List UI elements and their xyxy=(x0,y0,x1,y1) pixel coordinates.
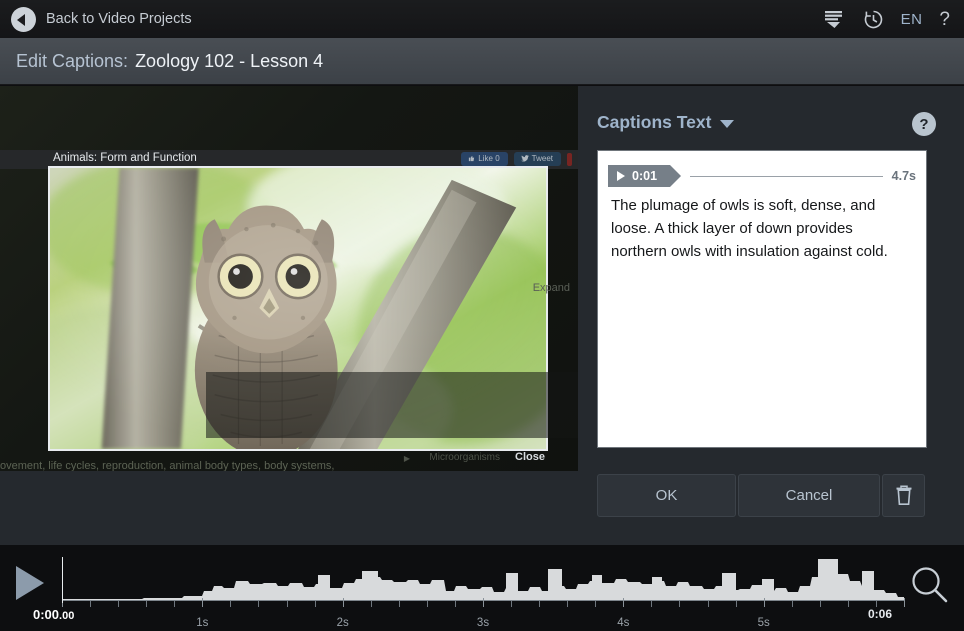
cue-duration: 4.7s xyxy=(892,169,916,183)
back-label: Back to Video Projects xyxy=(46,11,192,27)
cue-start-time: 0:01 xyxy=(632,169,657,183)
timeline-tick xyxy=(343,598,344,607)
timeline-tick xyxy=(483,598,484,607)
share-red-button[interactable] xyxy=(567,153,572,166)
timeline-tick xyxy=(708,601,709,607)
social-buttons: Like 0 Tweet xyxy=(461,152,572,166)
timeline-tick xyxy=(595,601,596,607)
caption-editor-app: Back to Video Projects xyxy=(0,0,964,631)
background-description-text: ovement, life cycles, reproduction, anim… xyxy=(0,460,578,471)
timeline-tick xyxy=(679,601,680,607)
top-bar-actions: EN ? xyxy=(824,9,950,30)
timeline-tick-label: 5s xyxy=(758,617,770,629)
timeline-tick xyxy=(623,598,624,607)
timeline-tick xyxy=(904,598,905,607)
timeline-tick xyxy=(567,601,568,607)
timeline-start-time: 0:00.00 xyxy=(33,607,74,622)
timeline-tick xyxy=(371,601,372,607)
caption-text-input[interactable]: The plumage of owls is soft, dense, and … xyxy=(611,195,912,263)
timeline-tick xyxy=(146,601,147,607)
magnifier-icon[interactable] xyxy=(910,565,950,610)
timeline-tick-label: 4s xyxy=(617,617,629,629)
timeline-tick xyxy=(202,598,203,607)
page-title-project: Zoology 102 - Lesson 4 xyxy=(135,51,323,72)
timeline-play-button[interactable] xyxy=(16,566,44,600)
video-preview-stage[interactable]: Animals: Form and Function Like 0 Tweet xyxy=(0,86,578,471)
timeline-tick xyxy=(90,601,91,607)
tweet-button[interactable]: Tweet xyxy=(514,152,561,166)
help-icon[interactable]: ? xyxy=(939,10,950,29)
timeline-tick xyxy=(736,601,737,607)
audio-waveform xyxy=(62,553,904,601)
timeline-end-time: 0:06 xyxy=(868,607,892,621)
timeline-tick xyxy=(174,601,175,607)
timeline-tick xyxy=(539,601,540,607)
timeline-tick-label: 3s xyxy=(477,617,489,629)
like-label: Like 0 xyxy=(478,154,499,163)
timeline-tick xyxy=(511,601,512,607)
timeline-start-frac: .00 xyxy=(59,610,74,622)
back-arrow-circle-icon xyxy=(11,7,36,32)
page-title-bar: Edit Captions: Zoology 102 - Lesson 4 xyxy=(0,38,964,85)
waveform-area[interactable]: 1s2s3s4s5s xyxy=(62,553,904,611)
back-to-video-projects-button[interactable]: Back to Video Projects xyxy=(11,7,192,32)
timeline-tick-label: 2s xyxy=(337,617,349,629)
tweet-label: Tweet xyxy=(532,154,553,163)
timeline-tick xyxy=(455,601,456,607)
timeline-tick xyxy=(651,601,652,607)
timeline-tick xyxy=(820,601,821,607)
timeline-tick xyxy=(764,598,765,607)
delete-caption-button[interactable] xyxy=(882,474,925,517)
top-bar: Back to Video Projects xyxy=(0,0,964,38)
timeline-tick xyxy=(427,601,428,607)
expand-label[interactable]: Expand xyxy=(533,282,570,294)
cue-timing-row: 0:01 4.7s xyxy=(608,165,916,187)
timeline-tick xyxy=(258,601,259,607)
timeline-tick xyxy=(118,601,119,607)
history-clock-icon[interactable] xyxy=(863,9,884,30)
timeline-tick-label: 1s xyxy=(196,617,208,629)
timeline-tick xyxy=(287,601,288,607)
content-area: Animals: Form and Function Like 0 Tweet xyxy=(0,86,964,545)
language-selector[interactable]: EN xyxy=(901,11,923,28)
panel-button-row: OK Cancel xyxy=(597,474,927,517)
play-icon xyxy=(617,171,625,181)
timeline-tick xyxy=(792,601,793,607)
cancel-button[interactable]: Cancel xyxy=(738,474,880,517)
audio-timeline[interactable]: 1s2s3s4s5s 0:00.00 0:06 xyxy=(0,545,964,631)
facebook-like-button[interactable]: Like 0 xyxy=(461,152,507,166)
timeline-tick xyxy=(848,601,849,607)
timeline-tick xyxy=(230,601,231,607)
captions-document-icon[interactable] xyxy=(824,9,846,29)
panel-help-icon[interactable]: ? xyxy=(912,112,936,136)
captions-text-dropdown[interactable]: Captions Text xyxy=(597,112,734,133)
video-player-title: Animals: Form and Function xyxy=(53,152,197,164)
timeline-tick xyxy=(315,601,316,607)
timeline-start-main: 0:00 xyxy=(33,607,59,622)
captions-panel-title: Captions Text xyxy=(597,112,711,133)
video-controls-shade xyxy=(206,372,578,438)
page-title-prefix: Edit Captions: xyxy=(16,51,128,72)
timeline-tick xyxy=(399,601,400,607)
chevron-down-icon xyxy=(720,120,734,128)
caption-editor-box[interactable]: 0:01 4.7s The plumage of owls is soft, d… xyxy=(597,150,927,448)
ok-button[interactable]: OK xyxy=(597,474,736,517)
captions-panel: Captions Text ? 0:01 4.7s The plumage of… xyxy=(578,86,964,545)
trash-icon xyxy=(895,485,913,506)
cue-start-marker[interactable]: 0:01 xyxy=(608,165,670,187)
timeline-playhead[interactable] xyxy=(62,557,63,603)
cue-duration-line xyxy=(690,176,883,177)
